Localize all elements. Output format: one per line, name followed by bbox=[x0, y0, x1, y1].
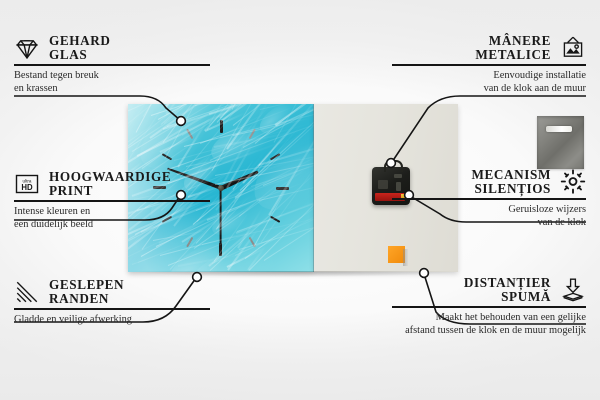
gear-icon bbox=[560, 169, 586, 195]
divider bbox=[392, 306, 586, 308]
polished-edges-icon bbox=[14, 279, 40, 305]
divider bbox=[392, 198, 586, 200]
divider bbox=[14, 200, 210, 202]
metal-hanger-plate bbox=[537, 116, 584, 169]
callout-title-line1: MECANISM bbox=[471, 168, 551, 182]
callout-distantier-spuma: DISTANȚIER SPUMĂ Maakt het behouden van … bbox=[392, 276, 586, 338]
callout-mecanism-silentios: MECANISM SILENȚIOS Geruisloze wijzers va… bbox=[392, 168, 586, 230]
callout-title-line1: HOOGWAARDIGE bbox=[49, 170, 171, 184]
callout-title-line2: PRINT bbox=[49, 184, 171, 198]
infographic-canvas: GEHARD GLAS Bestand tegen breuk en krass… bbox=[0, 0, 600, 400]
callout-description: Intense kleuren en een duidelijk beeld bbox=[14, 205, 210, 232]
callout-title-line1: GESLEPEN bbox=[49, 278, 124, 292]
callout-description: Maakt het behouden van een gelijke afsta… bbox=[392, 311, 586, 338]
mechanism-detail bbox=[378, 180, 388, 189]
svg-text:HD: HD bbox=[21, 183, 33, 192]
callout-description: Bestand tegen breuk en krassen bbox=[14, 69, 210, 96]
callout-description: Geruisloze wijzers van de klok bbox=[392, 203, 586, 230]
callout-title-line1: GEHARD bbox=[49, 34, 110, 48]
callout-description: Gladde en veilige afwerking bbox=[14, 313, 210, 326]
divider bbox=[14, 64, 210, 66]
divider bbox=[392, 64, 586, 66]
ultra-hd-icon: ultra HD bbox=[14, 171, 40, 197]
callout-geslepen-randen: GESLEPEN RANDEN Gladde en veilige afwerk… bbox=[14, 278, 210, 326]
callout-manere-metalice: MÂNERE METALICE Eenvoudige installatie v… bbox=[392, 34, 586, 96]
diamond-icon bbox=[14, 35, 40, 61]
callout-hoogwaardige-print: ultra HD HOOGWAARDIGE PRINT Intense kleu… bbox=[14, 170, 210, 232]
picture-frame-hanging-icon bbox=[560, 35, 586, 61]
foam-spacer bbox=[388, 246, 405, 263]
callout-title-line1: DISTANȚIER bbox=[464, 276, 551, 290]
divider bbox=[14, 308, 210, 310]
callout-title-line2: SILENȚIOS bbox=[474, 182, 551, 196]
arrow-press-pad-icon bbox=[560, 277, 586, 303]
callout-description: Eenvoudige installatie van de klok aan d… bbox=[392, 69, 586, 96]
callout-title-line1: MÂNERE bbox=[489, 34, 551, 48]
callout-title-line2: SPUMĂ bbox=[501, 290, 551, 304]
callout-gehard-glas: GEHARD GLAS Bestand tegen breuk en krass… bbox=[14, 34, 210, 96]
callout-title-line2: GLAS bbox=[49, 48, 110, 62]
callout-title-line2: METALICE bbox=[475, 48, 551, 62]
callout-title-line2: RANDEN bbox=[49, 292, 124, 306]
